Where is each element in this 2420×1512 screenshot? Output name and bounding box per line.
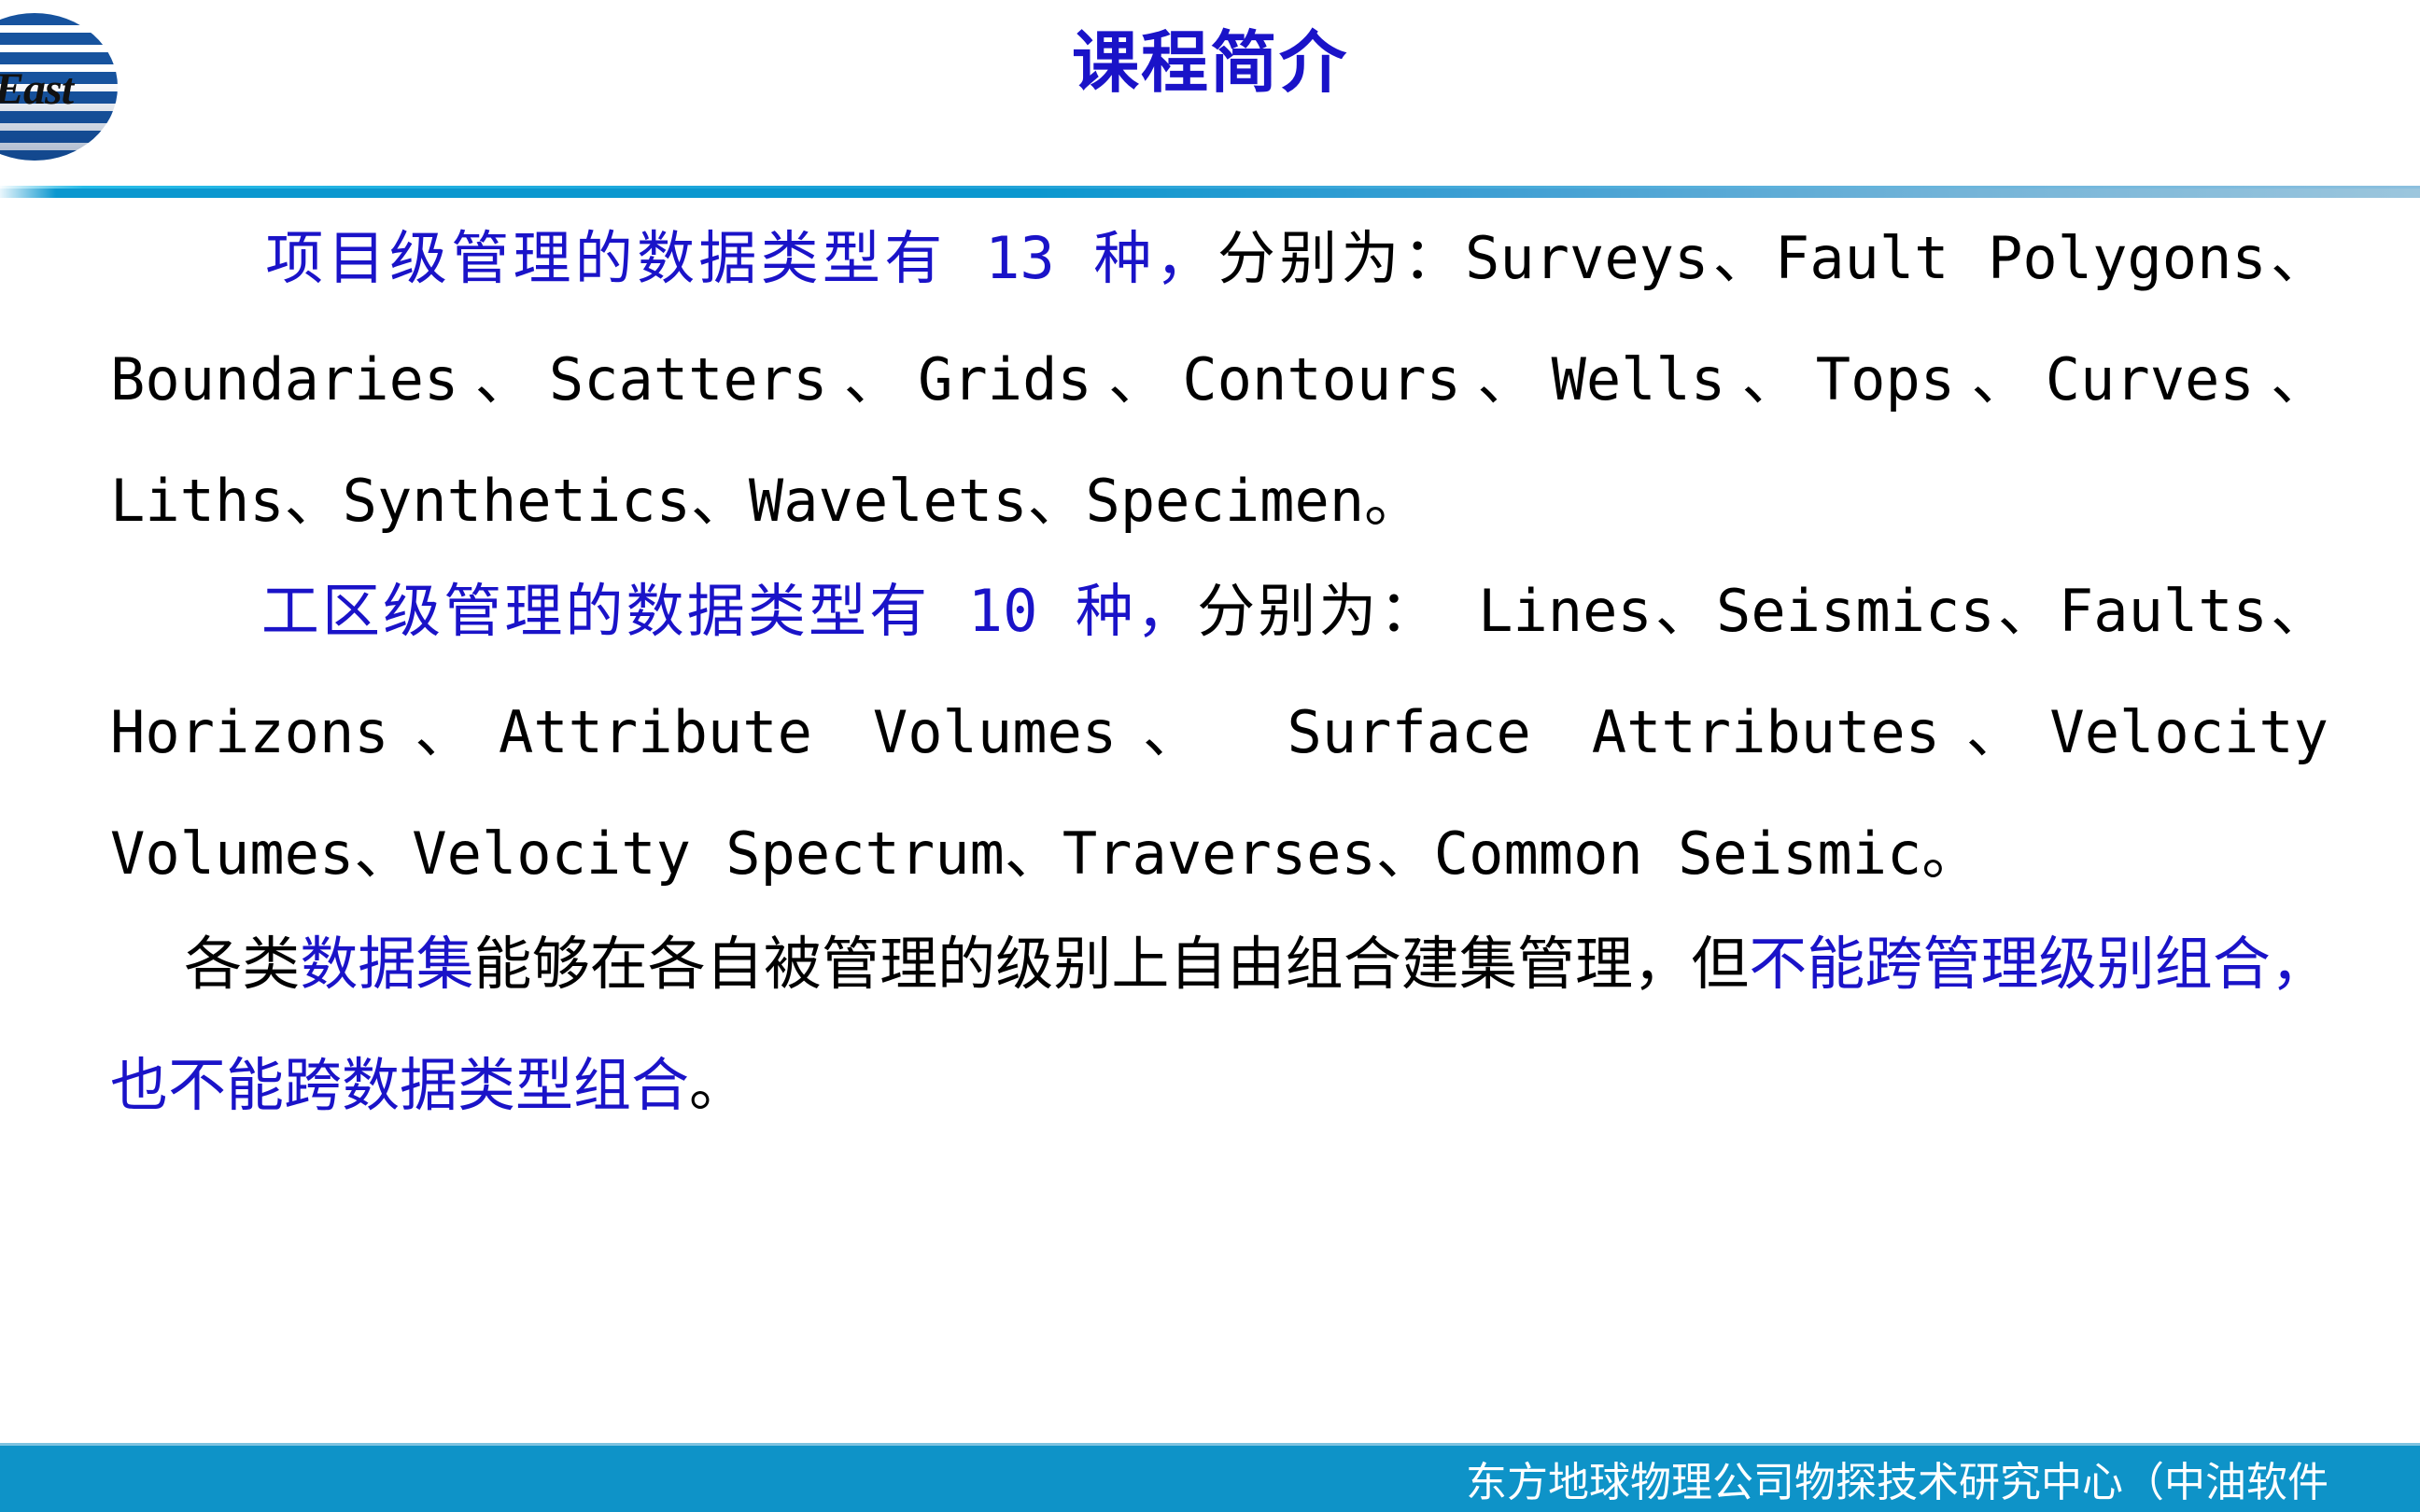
text-run: 各类 — [110, 930, 300, 998]
text-run: 项目级管理的数据类型有 13 种， — [110, 224, 1217, 292]
footer-top-line — [0, 1443, 2420, 1446]
footer-organization-text: 东方地球物理公司物探技术研究中心（中油软件 — [1466, 1458, 2420, 1508]
text-run: 工区级管理的数据类型有 10 种， — [110, 577, 1197, 645]
paragraph-project-level-types: 项目级管理的数据类型有 13 种，分别为：Surveys、Fault Polyg… — [0, 198, 2420, 562]
slide-root: { "slide": { "title": "课程简介", "logo": { … — [0, 0, 2420, 1512]
page-title: 课程简介 — [0, 22, 2420, 105]
paragraph-area-level-types: 工区级管理的数据类型有 10 种，分别为： Lines、Seismics、Fau… — [0, 551, 2420, 915]
text-run: 。 — [689, 1051, 747, 1119]
paragraph-dataset-combination-rule: 各类数据集能够在各自被管理的级别上自由组合建集管理，但不能跨管理级别组合，也不能… — [0, 903, 2420, 1146]
text-run: 数据集 — [300, 930, 473, 998]
slide-footer: 东方地球物理公司物探技术研究中心（中油软件 — [0, 1443, 2420, 1512]
text-run: 能够在各自被管理的级别上自由组合建集管理，但 — [474, 930, 1750, 998]
slide-content: 项目级管理的数据类型有 13 种，分别为：Surveys、Fault Polyg… — [0, 198, 2420, 1411]
slide-header: East 课程简介 — [0, 0, 2420, 198]
header-divider-highlight — [0, 186, 2420, 189]
